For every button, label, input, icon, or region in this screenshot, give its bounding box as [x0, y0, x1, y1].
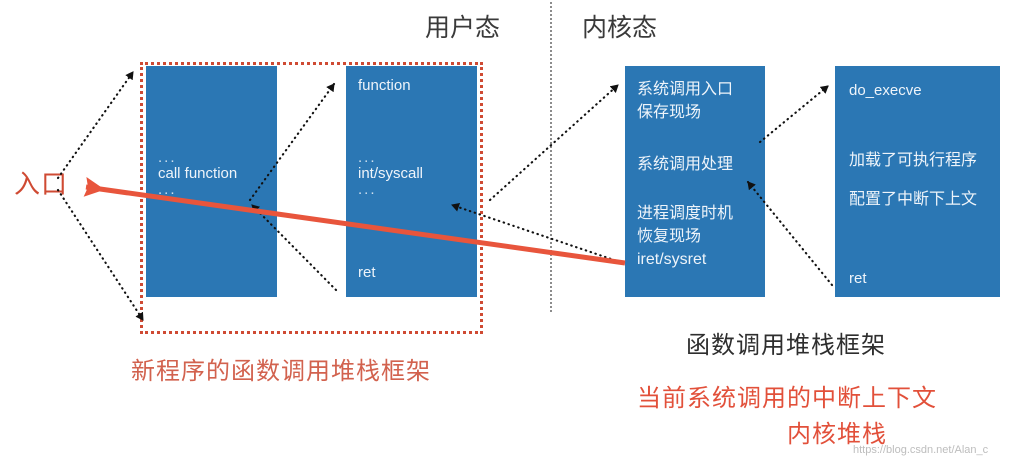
box2-dots-top: ... [358, 150, 423, 166]
dotted-arrow-syscall-to-kernel-entry [490, 85, 618, 200]
label-entry-point: 入口 [14, 164, 68, 201]
caption-call-stack-frame: 函数调用堆栈框架 [686, 325, 886, 360]
kernel-syscall-frame-box: 系统调用入口 保存现场 系统调用处理 进程调度时机 恢复现场 iret/sysr… [625, 66, 765, 297]
box4-setup-context: 配置了中断下上文 [849, 188, 977, 211]
box3-line-3: 系统调用处理 [637, 153, 733, 176]
box3-line-2: 保存现场 [637, 101, 733, 124]
box1-call-function: call function [158, 166, 237, 182]
box3-line-1: 系统调用入口 [637, 78, 733, 101]
box1-dots-top: ... [158, 150, 237, 166]
dotted-arrow-entry-to-frame-top [58, 72, 133, 178]
box4-load-program: 加载了可执行程序 [849, 149, 977, 172]
box2-dots-bottom: ... [358, 182, 423, 198]
label-user-mode: 用户态 [425, 8, 500, 44]
box2-function: function [358, 78, 411, 94]
watermark-text: https://blog.csdn.net/Alan_c [853, 444, 988, 456]
kernel-execve-frame-box: do_execve 加载了可执行程序 配置了中断下上文 ret [835, 66, 1000, 297]
box2-int-syscall: int/syscall [358, 166, 423, 182]
diagram-canvas: 用户态 内核态 ... call function ... function .… [0, 0, 1019, 467]
box2-ret: ret [358, 265, 376, 281]
caption-current-syscall-context: 当前系统调用的中断上下文 [637, 378, 937, 413]
dotted-arrow-entry-to-frame-bottom [58, 190, 143, 320]
box4-ret: ret [849, 268, 867, 290]
mode-divider-line [550, 2, 552, 312]
caption-new-program-frame: 新程序的函数调用堆栈框架 [131, 351, 431, 386]
label-kernel-mode: 内核态 [582, 8, 657, 44]
box3-line-5: 恢复现场 [637, 225, 733, 248]
user-function-frame-box: function ... int/syscall ... ret [346, 66, 477, 297]
dotted-arrow-handler-to-execve [760, 86, 828, 142]
user-caller-frame-box: ... call function ... [146, 66, 277, 297]
box4-do-execve: do_execve [849, 80, 922, 102]
box3-line-4: 进程调度时机 [637, 202, 733, 225]
box1-dots-bottom: ... [158, 182, 237, 198]
box3-line-6: iret/sysret [637, 248, 733, 271]
